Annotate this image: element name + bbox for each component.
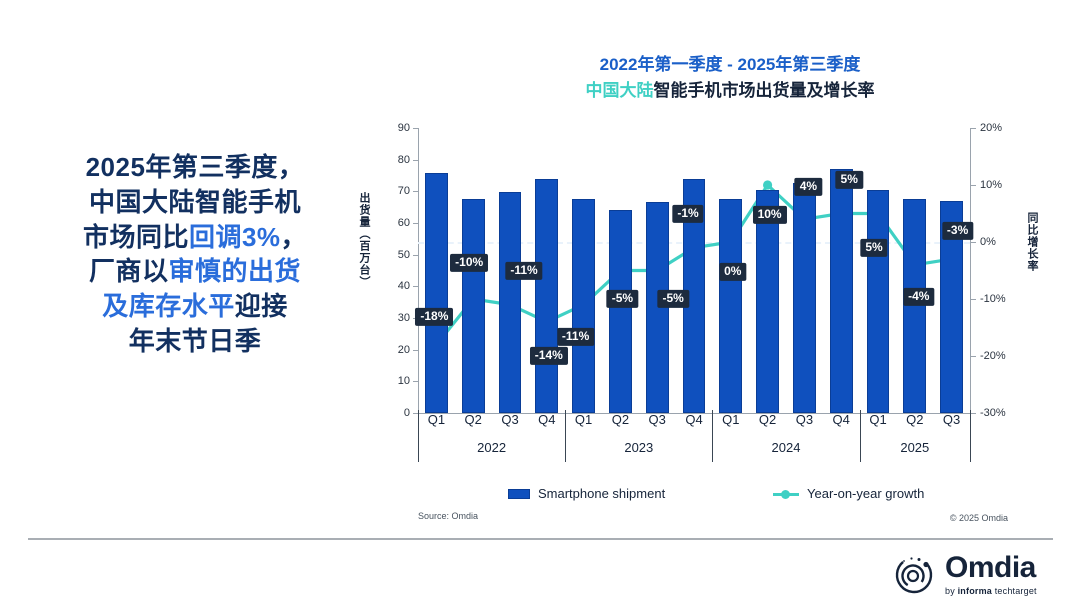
omdia-tagline: by informa techtarget [945, 586, 1037, 596]
data-label: -4% [903, 288, 934, 306]
y-tick-left [413, 286, 418, 287]
y-axis-right-line [970, 128, 971, 413]
y-tick-label-left: 50 [370, 250, 410, 261]
x-year-separator [970, 410, 971, 462]
x-year-separator [418, 410, 419, 462]
headline-segment: 回调3% [189, 222, 281, 252]
data-label: 0% [719, 263, 746, 281]
x-quarter-label: Q2 [465, 412, 482, 427]
y-tick-label-left: 70 [370, 186, 410, 197]
data-label: -11% [505, 262, 542, 280]
legend-item-shipment[interactable]: Smartphone shipment [508, 486, 665, 501]
x-year-label: 2022 [477, 440, 506, 455]
chart-title-segment: 2022年第一季度 - 2025年第三季度 [600, 55, 861, 74]
x-quarter-label: Q3 [649, 412, 666, 427]
growth-point[interactable] [763, 180, 772, 189]
y-tick-left [413, 160, 418, 161]
x-quarter-label: Q3 [943, 412, 960, 427]
data-label: 10% [753, 206, 787, 224]
y-tick-right [971, 242, 976, 243]
chart-title-segment: 中国大陆 [586, 81, 654, 100]
plot-area: 0102030405060708090-30%-20%-10%0%10%20%-… [418, 128, 970, 413]
bar[interactable] [793, 183, 816, 413]
y-tick-label-right: -20% [980, 351, 1026, 362]
bar[interactable] [462, 199, 485, 413]
headline-line-6: 年末节日季 [20, 324, 370, 359]
y-tick-right [971, 128, 976, 129]
chart-title-line-2: 中国大陆智能手机市场出货量及增长率 [400, 78, 1060, 104]
y-tick-label-left: 20 [370, 345, 410, 356]
x-quarter-label: Q1 [869, 412, 886, 427]
y-tick-label-left: 90 [370, 123, 410, 134]
headline-segment: ， [281, 222, 308, 252]
x-quarter-label: Q4 [833, 412, 850, 427]
x-quarter-label: Q1 [575, 412, 592, 427]
data-label: -5% [607, 289, 638, 307]
legend-label-growth: Year-on-year growth [807, 486, 924, 501]
headline-segment: 年末节日季 [129, 326, 262, 356]
copyright-note: © 2025 Omdia [950, 513, 1008, 523]
x-year-separator [565, 410, 566, 462]
legend-item-growth[interactable]: Year-on-year growth [773, 486, 924, 501]
y-tick-right [971, 356, 976, 357]
data-label: -3% [942, 222, 973, 240]
chart-title-line-1: 2022年第一季度 - 2025年第三季度 [400, 52, 1060, 78]
y-tick-label-right: 0% [980, 237, 1026, 248]
data-label: -11% [557, 328, 594, 346]
y-tick-right [971, 413, 976, 414]
y-tick-label-left: 30 [370, 313, 410, 324]
headline-line-4: 厂商以审慎的出货 [20, 254, 370, 289]
bar[interactable] [903, 199, 926, 413]
y-tick-left [413, 350, 418, 351]
tagline-bold: informa [958, 586, 992, 596]
x-year-separator [860, 410, 861, 462]
headline-segment: 市场同比 [83, 222, 189, 252]
x-quarter-label: Q2 [612, 412, 629, 427]
omdia-mark-icon [893, 552, 937, 596]
y-tick-label-right: 20% [980, 123, 1026, 134]
data-label: -1% [672, 205, 703, 223]
chart-legend: Smartphone shipment Year-on-year growth [418, 486, 978, 506]
bar[interactable] [425, 173, 448, 413]
x-quarter-label: Q3 [501, 412, 518, 427]
x-quarter-label: Q3 [796, 412, 813, 427]
x-year-separator [712, 410, 713, 462]
headline-panel: 2025年第三季度，中国大陆智能手机市场同比回调3%，厂商以审慎的出货及库存水平… [20, 150, 370, 359]
headline-line-5: 及库存水平迎接 [20, 289, 370, 324]
data-label: 5% [860, 238, 887, 256]
tagline-prefix: by [945, 586, 958, 596]
y-tick-left [413, 381, 418, 382]
data-label: -18% [415, 308, 453, 326]
headline-segment: 中国大陆智能手机 [89, 187, 301, 217]
data-label: -10% [450, 254, 488, 272]
y-tick-right [971, 299, 976, 300]
legend-label-shipment: Smartphone shipment [538, 486, 665, 501]
y-tick-left [413, 255, 418, 256]
chart-title-segment: 智能手机市场出货量及增长率 [654, 81, 875, 100]
bar[interactable] [609, 210, 632, 413]
x-axis-labels: Q1Q2Q3Q4Q1Q2Q3Q4Q1Q2Q3Q4Q1Q2Q32022202320… [418, 410, 970, 468]
headline-segment: 审慎的出货 [169, 256, 302, 286]
x-quarter-label: Q4 [538, 412, 555, 427]
omdia-wordmark: Omdia [945, 553, 1037, 583]
headline-segment: 迎接 [235, 291, 288, 321]
y-tick-label-left: 40 [370, 281, 410, 292]
data-label: 4% [795, 178, 822, 196]
y-tick-label-left: 80 [370, 155, 410, 166]
headline-segment: 2025年第三季度， [86, 152, 305, 182]
tagline-suffix: techtarget [992, 586, 1037, 596]
y-tick-label-right: -10% [980, 294, 1026, 305]
bar-swatch-icon [508, 489, 530, 499]
y-axis-title-left: 出货量（百万台） [356, 192, 372, 288]
chart-area: 出货量（百万台） 同比增长率 0102030405060708090-30%-2… [352, 122, 1052, 422]
data-label: 5% [836, 170, 863, 188]
x-year-label: 2024 [772, 440, 801, 455]
omdia-logo: Omdia by informa techtarget [893, 552, 1037, 596]
y-tick-label-left: 10 [370, 376, 410, 387]
x-quarter-label: Q2 [906, 412, 923, 427]
source-note: Source: Omdia [418, 511, 478, 521]
bar[interactable] [646, 202, 669, 413]
y-tick-left [413, 128, 418, 129]
bar[interactable] [830, 169, 853, 413]
y-tick-left [413, 223, 418, 224]
headline-line-3: 市场同比回调3%， [20, 220, 370, 255]
line-swatch-icon [773, 489, 799, 499]
y-tick-left [413, 191, 418, 192]
x-year-label: 2023 [624, 440, 653, 455]
bar[interactable] [499, 192, 522, 413]
x-year-label: 2025 [900, 440, 929, 455]
x-quarter-label: Q1 [722, 412, 739, 427]
chart-title: 2022年第一季度 - 2025年第三季度中国大陆智能手机市场出货量及增长率 [400, 52, 1060, 103]
headline-segment: 厂商以 [89, 256, 169, 286]
y-axis-title-right: 同比增长率 [1024, 212, 1040, 272]
x-quarter-label: Q1 [428, 412, 445, 427]
x-quarter-label: Q4 [685, 412, 702, 427]
y-tick-label-left: 0 [370, 408, 410, 419]
y-tick-label-left: 60 [370, 218, 410, 229]
y-tick-right [971, 185, 976, 186]
footer-divider [28, 538, 1053, 540]
bar[interactable] [867, 190, 890, 413]
y-tick-label-right: -30% [980, 408, 1026, 419]
y-tick-label-right: 10% [980, 180, 1026, 191]
bar[interactable] [572, 199, 595, 413]
bar[interactable] [719, 199, 742, 413]
x-quarter-label: Q2 [759, 412, 776, 427]
headline-line-1: 2025年第三季度， [20, 150, 370, 185]
headline-segment: 及库存水平 [102, 291, 235, 321]
data-label: -14% [530, 347, 568, 365]
bar[interactable] [535, 179, 558, 413]
headline-line-2: 中国大陆智能手机 [20, 185, 370, 220]
data-label: -5% [658, 289, 689, 307]
